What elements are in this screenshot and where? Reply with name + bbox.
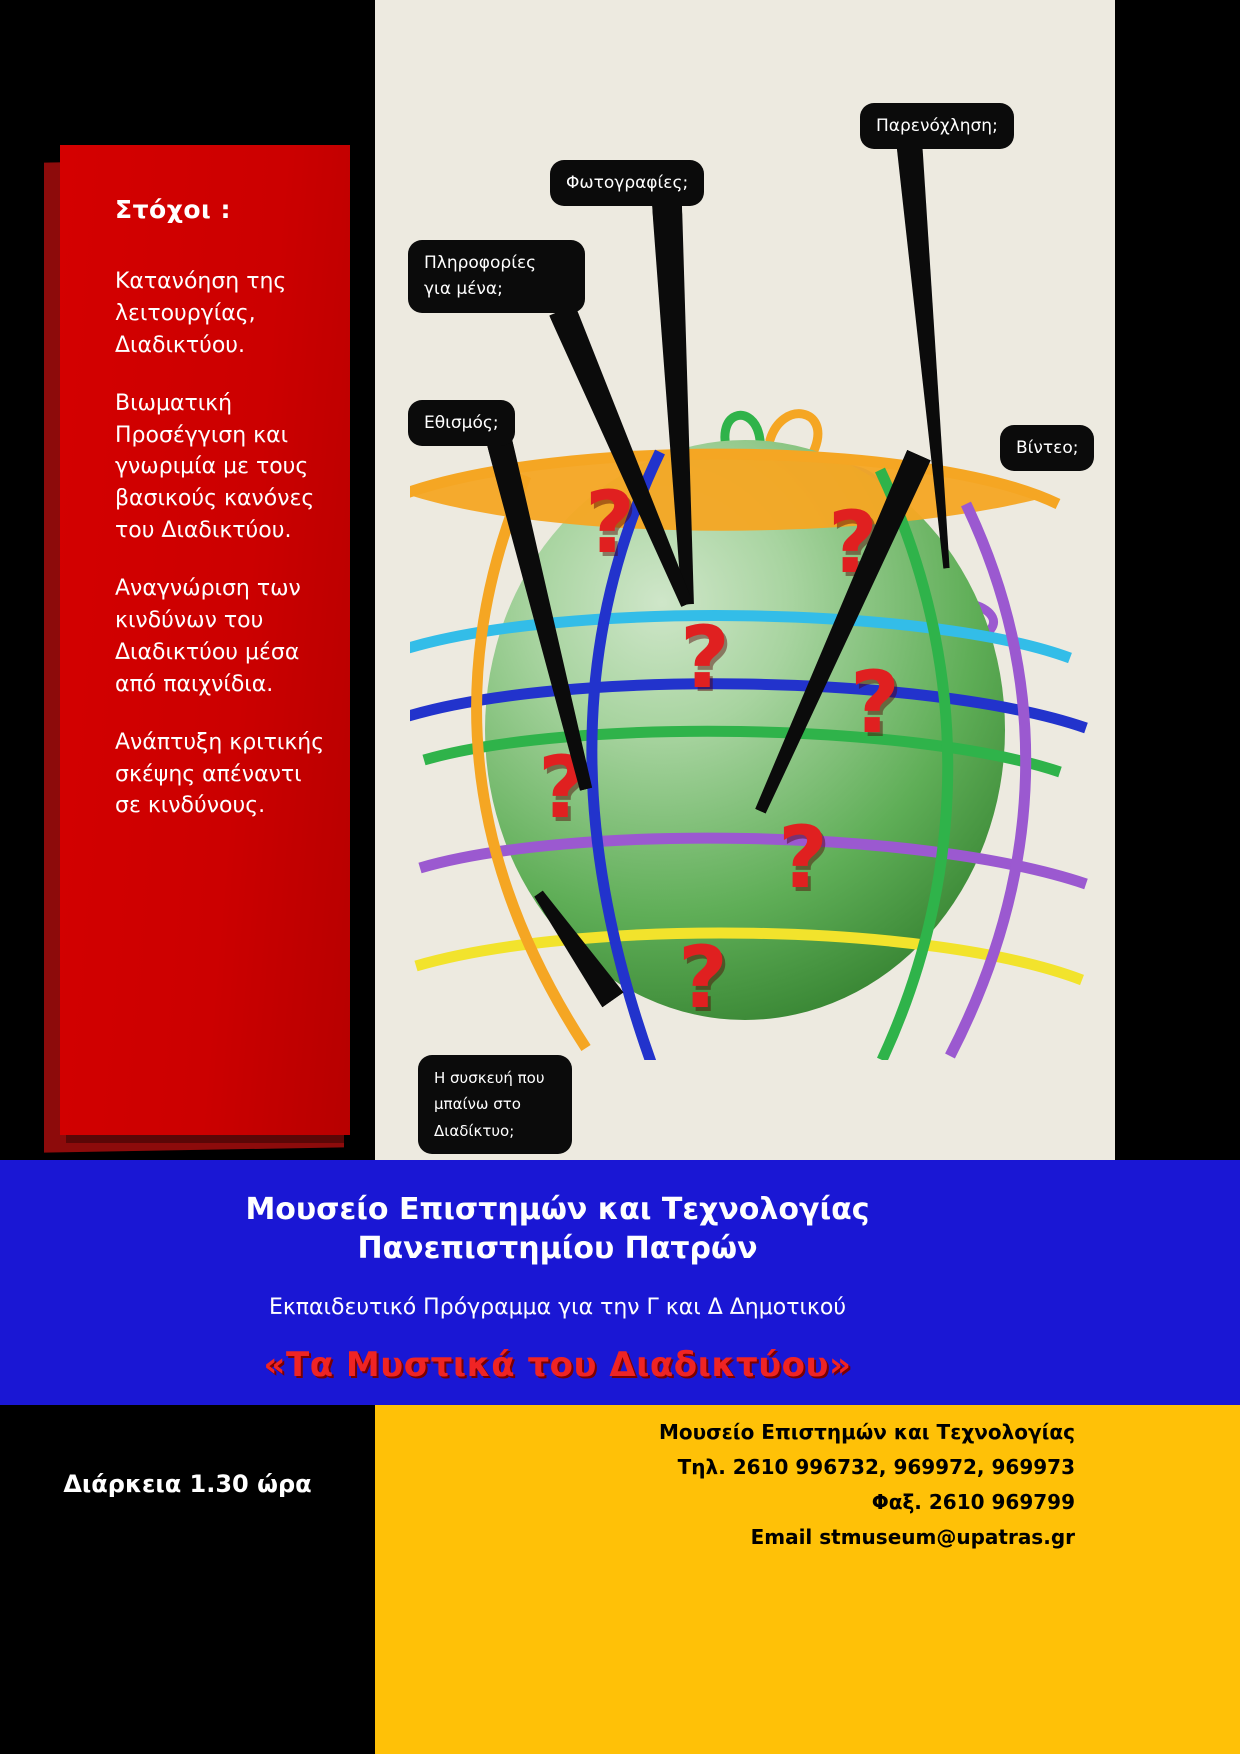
question-mark: ? (680, 615, 730, 701)
bottom-black-panel (0, 1405, 375, 1754)
right-black-strip (1115, 0, 1240, 1160)
bubble-addiction: Εθισμός; (408, 400, 515, 446)
bubble-video: Βίντεο; (1000, 425, 1094, 471)
museum-title-line2: Πανεπιστημίου Πατρών (0, 1229, 1115, 1268)
contact-details: Μουσείο Επιστημών και Τεχνολογίας Τηλ. 2… (375, 1415, 1075, 1555)
question-mark: ? (678, 935, 728, 1021)
contact-email: Email stmuseum@upatras.gr (375, 1520, 1075, 1555)
program-subtitle: Εκπαιδευτικό Πρόγραμμα για την Γ και Δ Δ… (0, 1295, 1115, 1320)
contact-box-right (1115, 1405, 1240, 1754)
objective-item: Βιωματική Προσέγγιση και γνωριμία με του… (115, 388, 332, 547)
program-title: «Τα Μυστικά του Διαδικτύου» (0, 1345, 1115, 1385)
bubble-info-about-me: Πληροφορίες για μένα; (408, 240, 585, 313)
duration-label: Διάρκεια 1.30 ώρα (0, 1470, 375, 1498)
objective-item: Αναγνώριση των κινδύνων του Διαδικτύου μ… (115, 573, 332, 701)
objective-item: Ανάπτυξη κριτικής σκέψης απέναντι σε κιν… (115, 727, 332, 823)
museum-title: Μουσείο Επιστημών και Τεχνολογίας Πανεπι… (0, 1190, 1115, 1268)
bubble-device: Η συσκευή που μπαίνω στο Διαδίκτυο; (418, 1055, 572, 1154)
contact-phone: Τηλ. 2610 996732, 969972, 969973 (375, 1450, 1075, 1485)
poster: Στόχοι : Κατανόηση της λειτουργίας, Διαδ… (0, 0, 1240, 1754)
bubble-photos: Φωτογραφίες; (550, 160, 704, 206)
objectives-box: Στόχοι : Κατανόηση της λειτουργίας, Διαδ… (60, 145, 350, 1135)
objectives-heading: Στόχοι : (60, 145, 350, 224)
contact-fax: Φαξ. 2610 969799 (375, 1485, 1075, 1520)
question-mark: ? (585, 480, 635, 566)
blue-footer-band-right (1115, 1160, 1240, 1405)
objectives-list: Κατανόηση της λειτουργίας, Διαδικτύου. Β… (60, 224, 350, 822)
question-mark: ? (778, 815, 828, 901)
museum-title-line1: Μουσείο Επιστημών και Τεχνολογίας (0, 1190, 1115, 1229)
objective-item: Κατανόηση της λειτουργίας, Διαδικτύου. (115, 266, 332, 362)
bubble-harassment: Παρενόχληση; (860, 103, 1014, 149)
question-mark: ? (850, 660, 900, 746)
contact-name: Μουσείο Επιστημών και Τεχνολογίας (375, 1415, 1075, 1450)
